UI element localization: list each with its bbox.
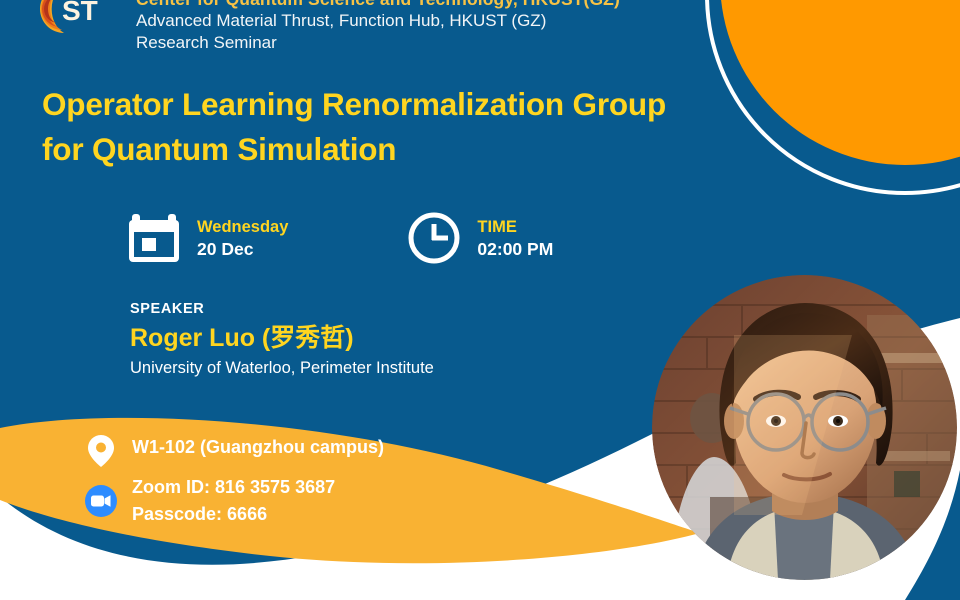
speaker-label: SPEAKER: [130, 300, 434, 319]
calendar-icon: [128, 212, 180, 264]
date-text: Wednesday 20 Dec: [197, 216, 288, 261]
zoom-block: Zoom ID: 816 3575 3687 Passcode: 6666: [84, 474, 335, 528]
speaker-name: Roger Luo (罗秀哲): [130, 320, 434, 356]
title-line-1: Operator Learning Renormalization Group: [42, 82, 722, 127]
zoom-id: Zoom ID: 816 3575 3687: [132, 474, 335, 501]
cqst-logo: ST: [30, 0, 108, 36]
date-label: Wednesday: [197, 216, 288, 238]
location-pin-icon: [86, 434, 116, 468]
seminar-poster: ST Center for Quantum Science and Techno…: [0, 0, 960, 600]
time-block: TIME 02:00 PM: [408, 212, 553, 264]
date-block: Wednesday 20 Dec: [128, 212, 288, 264]
clock-icon: [408, 212, 460, 264]
venue-text: W1-102 (Guangzhou campus): [132, 434, 384, 460]
logo-arcs: [40, 0, 64, 33]
speaker-affiliation: University of Waterloo, Perimeter Instit…: [130, 357, 434, 379]
event-meta-row: Wednesday 20 Dec TIME 02:00 PM: [128, 212, 553, 264]
zoom-passcode: Passcode: 6666: [132, 501, 335, 528]
header-organization: Center for Quantum Science and Technolog…: [136, 0, 620, 10]
venue-block: W1-102 (Guangzhou campus): [86, 434, 384, 468]
zoom-video-icon: [84, 484, 118, 518]
header-department: Advanced Material Thrust, Function Hub, …: [136, 10, 620, 32]
zoom-text-group: Zoom ID: 816 3575 3687 Passcode: 6666: [118, 474, 335, 528]
portrait-image: [652, 275, 957, 580]
header-event-type: Research Seminar: [136, 32, 620, 54]
speaker-portrait: [652, 275, 957, 580]
page-title: Operator Learning Renormalization Group …: [42, 82, 722, 172]
speaker-block: SPEAKER Roger Luo (罗秀哲) University of Wa…: [130, 300, 434, 379]
title-line-2: for Quantum Simulation: [42, 127, 722, 172]
time-value: 02:00 PM: [477, 238, 553, 261]
logo-text: ST: [62, 0, 98, 26]
decorative-circle-orange: [720, 0, 960, 165]
decorative-arc-outline: [707, 0, 960, 193]
header-block: Center for Quantum Science and Technolog…: [136, 0, 620, 54]
date-value: 20 Dec: [197, 238, 288, 261]
time-text: TIME 02:00 PM: [477, 216, 553, 261]
time-label: TIME: [477, 216, 553, 238]
